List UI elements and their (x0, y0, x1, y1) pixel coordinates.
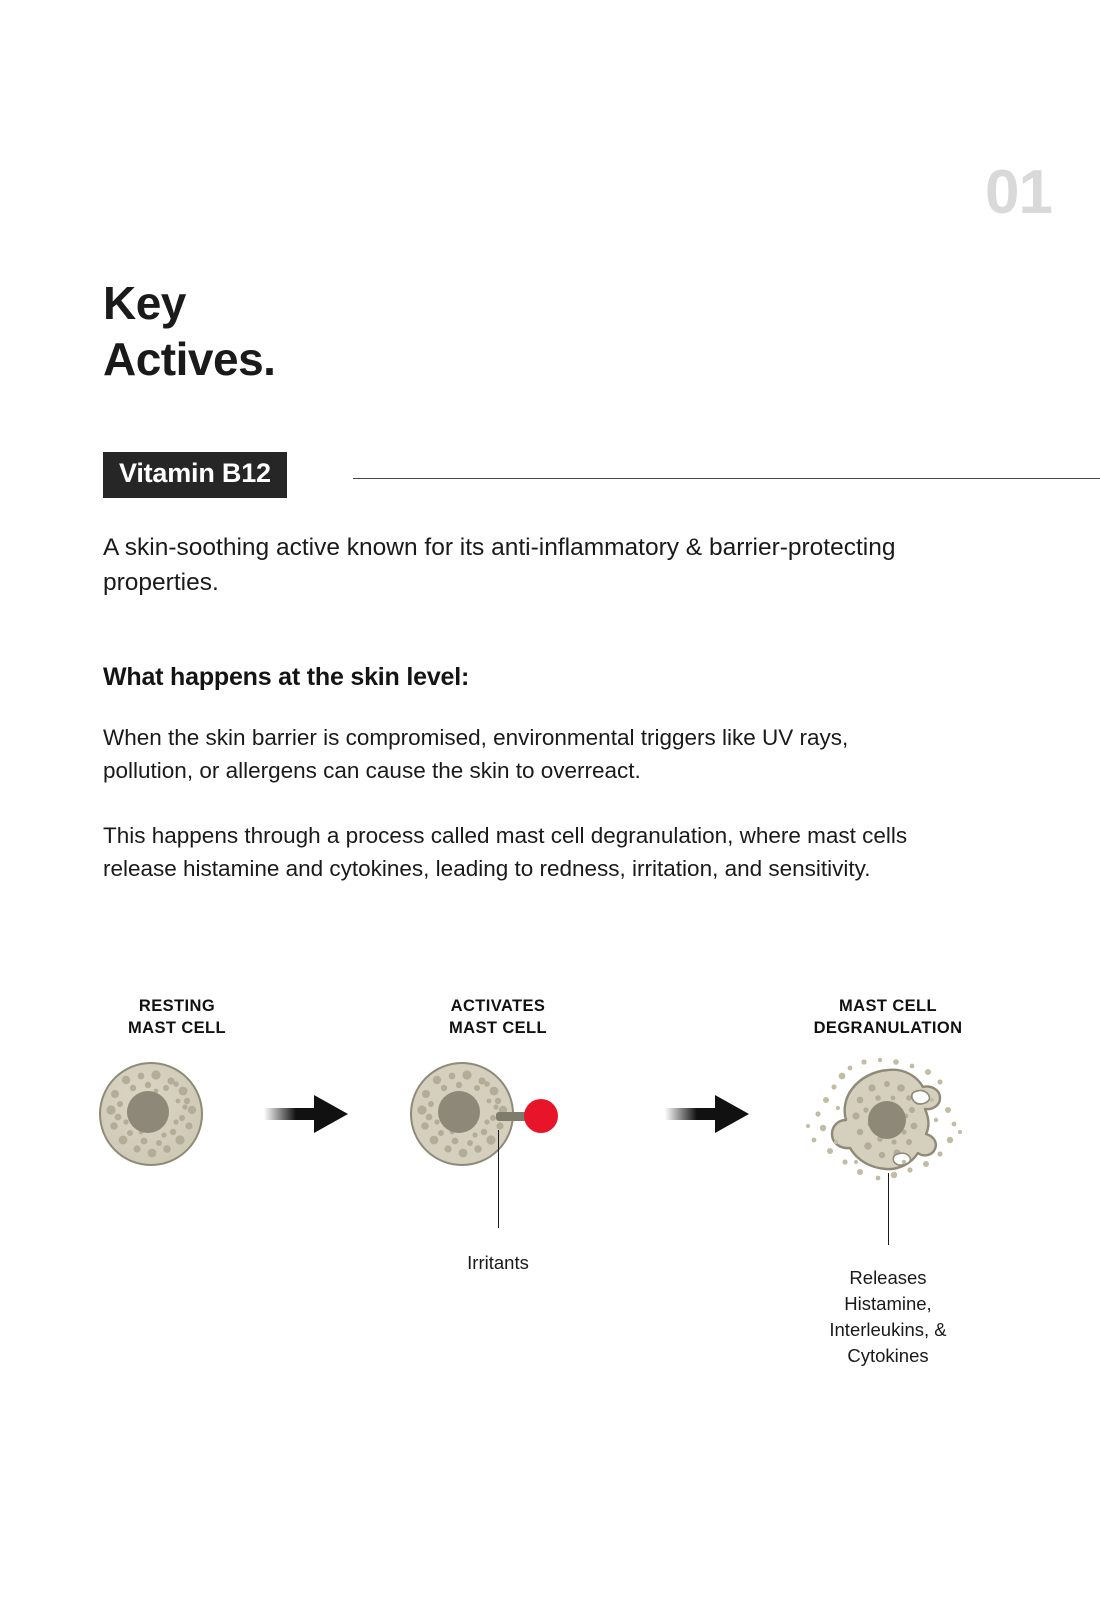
page: 01 Key Actives. Vitamin B12 A skin-sooth… (0, 0, 1100, 1600)
diagram-stage-resting-title: RESTING MAST CELL (88, 995, 266, 1040)
diagram-stage-degranulation-title: MAST CELL DEGRANULATION (790, 995, 986, 1040)
page-title-line-1: Key (103, 275, 275, 331)
section-rule-divider (353, 478, 1100, 479)
diagram-stage-degranulation: MAST CELL DEGRANULATION (790, 995, 986, 1189)
resting-mast-cell-icon (88, 1054, 266, 1179)
irritant-dot (524, 1099, 558, 1133)
section-intro-text: A skin-soothing active known for its ant… (103, 531, 1008, 601)
diagram-stage-resting: RESTING MAST CELL (88, 995, 266, 1179)
leader-line-releases (888, 1173, 889, 1245)
section-sub-heading: What happens at the skin level: (103, 663, 469, 692)
leader-line-irritants (498, 1130, 499, 1228)
diagram-stage-activated-title: ACTIVATES MAST CELL (400, 995, 596, 1040)
paragraph-skin-barrier: When the skin barrier is compromised, en… (103, 722, 933, 787)
mast-cell-process-diagram: RESTING MAST CELL (0, 995, 1100, 1395)
degranulating-mast-cell-icon (790, 1054, 986, 1189)
page-title-line-2: Actives. (103, 331, 275, 387)
section-header: Vitamin B12 (103, 452, 1100, 496)
leader-label-irritants: Irritants (400, 1250, 596, 1276)
page-title: Key Actives. (103, 275, 275, 387)
paragraph-degranulation: This happens through a process called ma… (103, 820, 933, 885)
arrow-activated-to-degranulation-icon (663, 1090, 751, 1143)
arrow-resting-to-activated-icon (262, 1090, 350, 1143)
section-badge-vitamin-b12: Vitamin B12 (103, 452, 287, 498)
leader-label-releases: Releases Histamine, Interleukins, & Cyto… (790, 1265, 986, 1369)
leader-irritants: Irritants (400, 1130, 596, 1276)
leader-releases: Releases Histamine, Interleukins, & Cyto… (790, 1173, 986, 1369)
page-number: 01 (985, 162, 1052, 224)
